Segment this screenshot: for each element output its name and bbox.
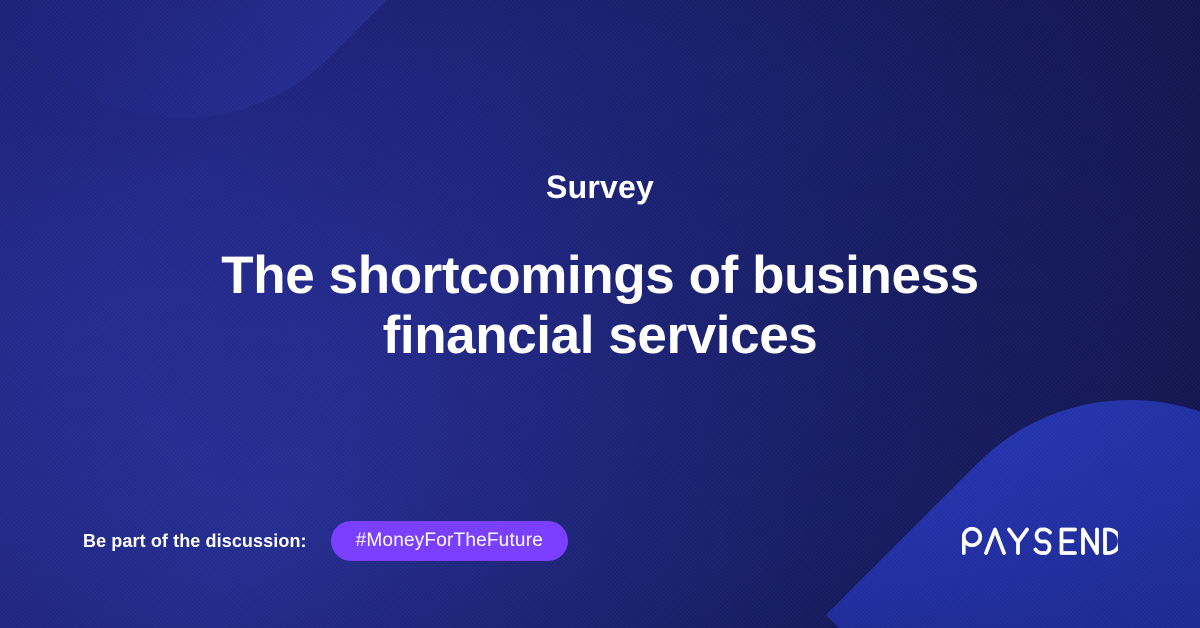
hashtag-badge[interactable]: #MoneyForTheFuture	[331, 521, 568, 561]
social-card: Survey The shortcomings of business fina…	[0, 0, 1200, 628]
eyebrow-label: Survey	[0, 170, 1200, 205]
discussion-label: Be part of the discussion:	[83, 531, 307, 552]
paysend-logo[interactable]	[962, 527, 1118, 557]
headline-line-2: financial services	[160, 306, 1040, 366]
page-title: The shortcomings of business financial s…	[160, 246, 1040, 367]
paysend-wordmark-icon	[962, 527, 1118, 557]
card-content: Survey The shortcomings of business fina…	[0, 0, 1200, 628]
headline-line-1: The shortcomings of business	[160, 246, 1040, 306]
discussion-row: Be part of the discussion: #MoneyForTheF…	[83, 521, 568, 561]
